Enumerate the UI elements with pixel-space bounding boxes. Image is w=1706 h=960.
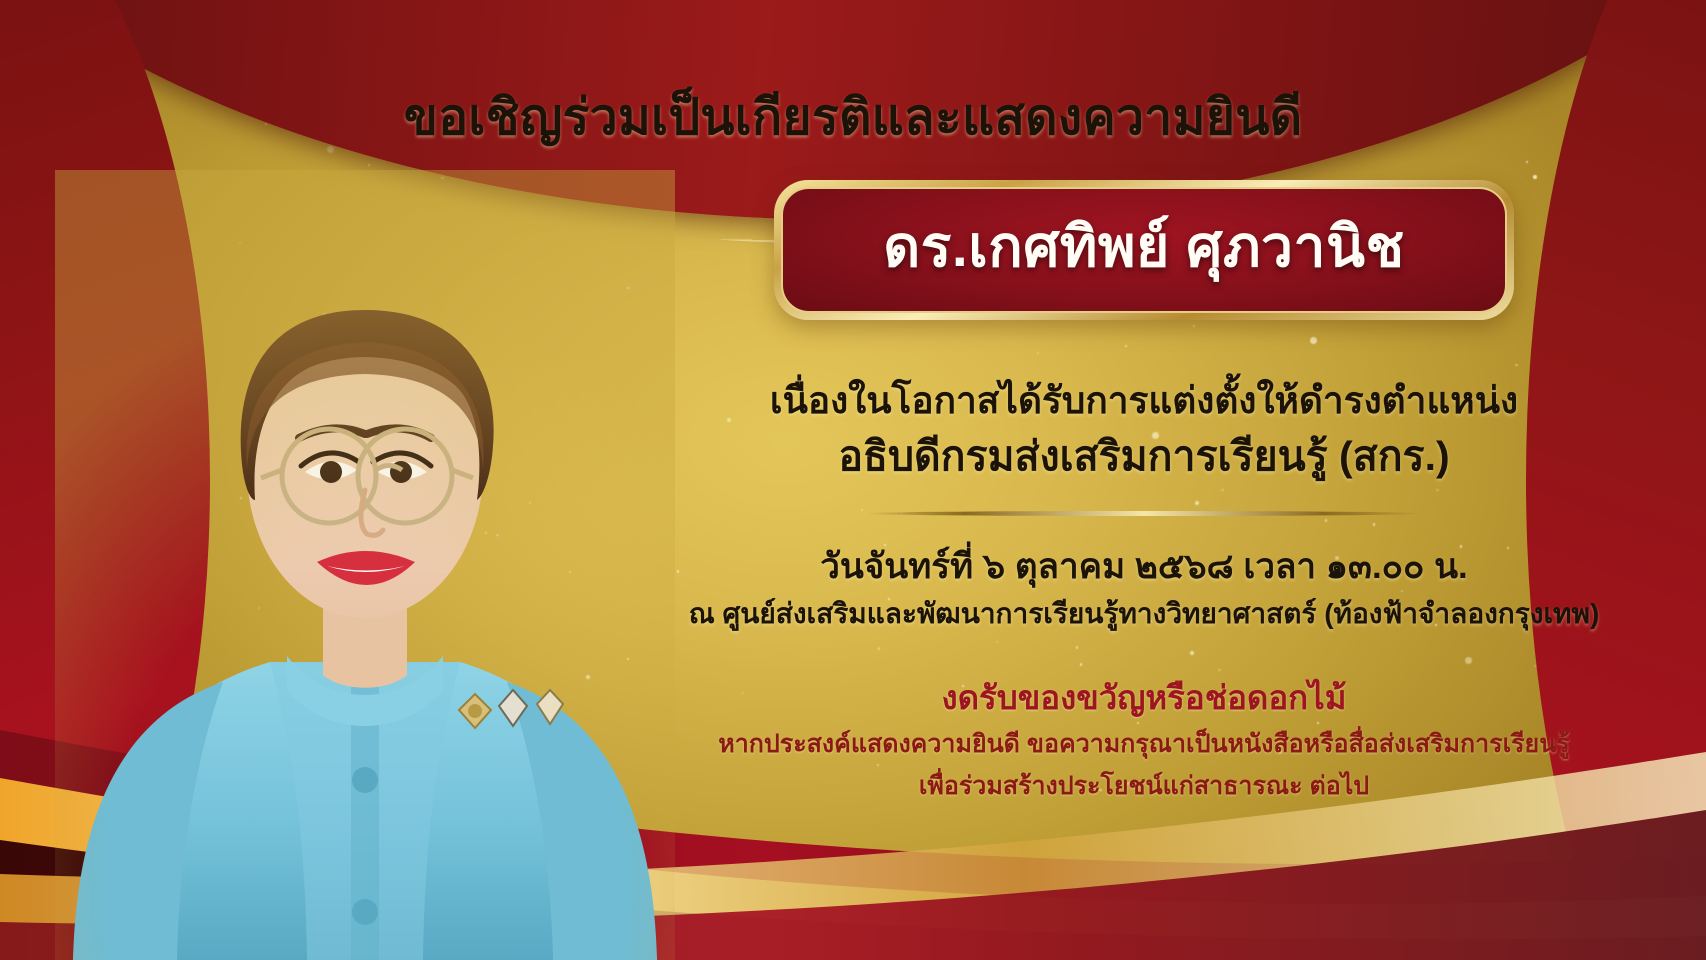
gift-notice-detail-2: เพื่อร่วมสร้างประโยชน์แก่สาธารณะ ต่อไป (640, 768, 1648, 804)
section-divider (864, 511, 1424, 516)
occasion-line: เนื่องในโอกาสได้รับการแต่งตั้งให้ดำรงตำแ… (640, 374, 1648, 428)
event-datetime: วันจันทร์ที่ ๖ ตุลาคม ๒๕๖๘ เวลา ๑๓.๐๐ น. (640, 542, 1648, 593)
position-line: อธิบดีกรมส่งเสริมการเรียนรู้ (สกร.) (640, 428, 1648, 485)
honoree-name: ดร.เกศทิพย์ ศุภวานิช (883, 219, 1404, 282)
gift-notice-detail-1: หากประสงค์แสดงความยินดี ขอความกรุณาเป็นห… (640, 726, 1648, 762)
event-venue: ณ ศูนย์ส่งเสริมและพัฒนาการเรียนรู้ทางวิท… (640, 593, 1648, 635)
page-title: ขอเชิญร่วมเป็นเกียรติและแสดงความยินดี (0, 78, 1706, 157)
honoree-name-plate-inner: ดร.เกศทิพย์ ศุภวานิช (781, 187, 1507, 313)
congratulation-card: ขอเชิญร่วมเป็นเกียรติและแสดงความยินดี ดร… (0, 0, 1706, 960)
gift-notice: งดรับของขวัญหรือช่อดอกไม้ (640, 677, 1648, 720)
content-column: ดร.เกศทิพย์ ศุภวานิช เนื่องในโอกาสได้รับ… (640, 180, 1648, 804)
honoree-name-plate: ดร.เกศทิพย์ ศุภวานิช (774, 180, 1514, 320)
